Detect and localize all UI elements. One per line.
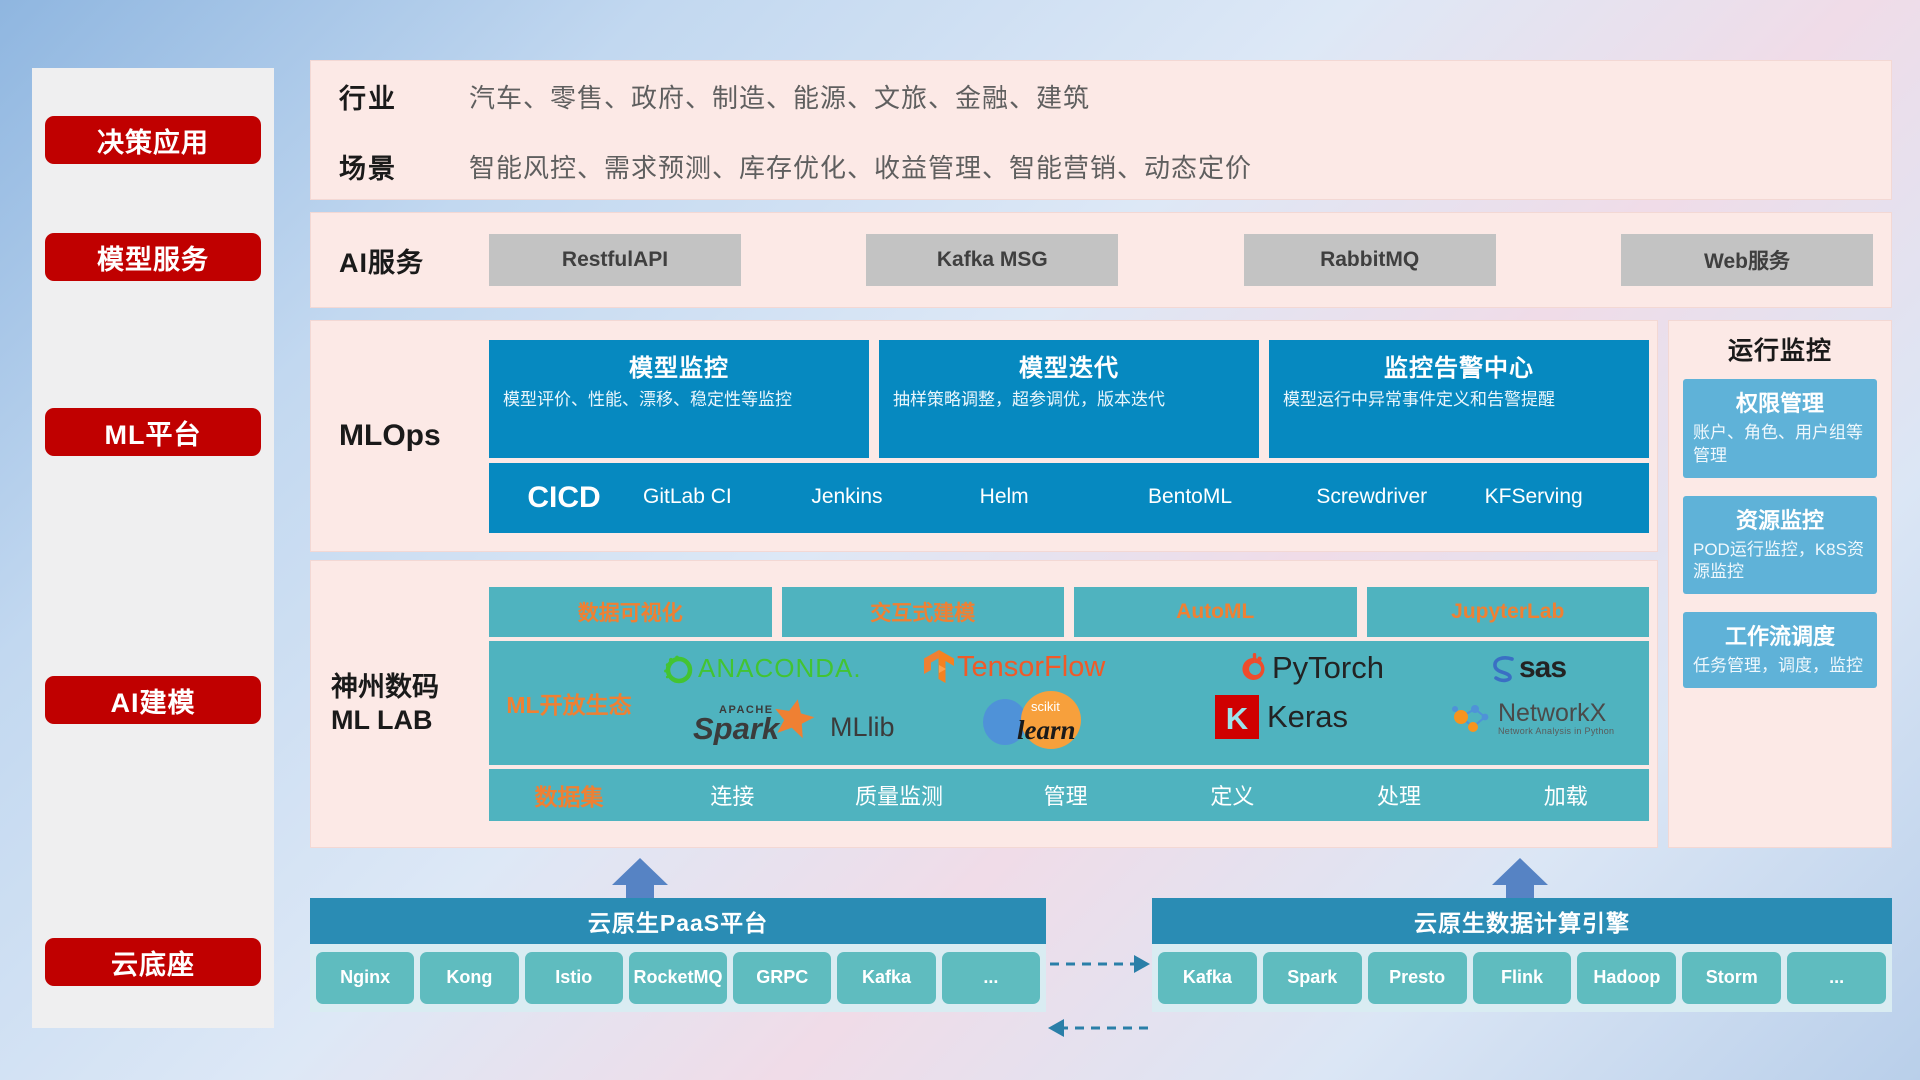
card-desc: 账户、角色、用户组等管理 <box>1693 422 1867 468</box>
mllib-wordmark: MLlib <box>830 712 895 743</box>
service-box-restfulapi[interactable]: RestfulAPI <box>489 234 741 286</box>
monitoring-card-resource[interactable]: 资源监控 POD运行监控，K8S资源监控 <box>1683 496 1877 595</box>
scenario-row: 场景 智能风控、需求预测、库存优化、收益管理、智能营销、动态定价 <box>311 131 1891 201</box>
cicd-item-helm[interactable]: Helm <box>976 486 1144 509</box>
networkx-tagline: Network Analysis in Python <box>1498 726 1614 736</box>
ml-open-ecosystem-label: ML开放生态 <box>489 686 649 720</box>
pytorch-wordmark: PyTorch <box>1272 650 1384 686</box>
svg-text:Spark: Spark <box>693 711 781 745</box>
cicd-item-screwdriver[interactable]: Screwdriver <box>1312 486 1480 509</box>
ml-open-ecosystem: ML开放生态 ANACONDA. <box>489 641 1649 765</box>
sidebar-item-label: 模型服务 <box>97 238 209 277</box>
engine-chip-more[interactable]: ... <box>1787 952 1886 1004</box>
decision-applications-band: 行业 汽车、零售、政府、制造、能源、文旅、金融、建筑 场景 智能风控、需求预测、… <box>310 60 1892 200</box>
dataset-item-quality-monitor[interactable]: 质量监测 <box>816 779 983 811</box>
card-desc: 任务管理，调度，监控 <box>1693 655 1867 678</box>
tool-automl[interactable]: AutoML <box>1074 587 1357 637</box>
tool-jupyterlab[interactable]: JupyterLab <box>1367 587 1650 637</box>
dataset-bar: 数据集 连接 质量监测 管理 定义 处理 加载 <box>489 769 1649 821</box>
engine-chip-list: Kafka Spark Presto Flink Hadoop Storm ..… <box>1152 944 1892 1012</box>
dataset-label: 数据集 <box>489 778 649 812</box>
paas-chip-kong[interactable]: Kong <box>420 952 518 1004</box>
dataset-item-define[interactable]: 定义 <box>1149 779 1316 811</box>
engine-chip-flink[interactable]: Flink <box>1473 952 1572 1004</box>
engine-chip-storm[interactable]: Storm <box>1682 952 1781 1004</box>
industry-row: 行业 汽车、零售、政府、制造、能源、文旅、金融、建筑 <box>311 61 1891 131</box>
ecosystem-logo-grid: ANACONDA. TensorFlow <box>649 641 1649 765</box>
paas-chip-kafka[interactable]: Kafka <box>837 952 935 1004</box>
industry-key: 行业 <box>339 77 469 116</box>
card-desc: 模型运行中异常事件定义和告警提醒 <box>1283 389 1635 412</box>
networkx-wordmark: NetworkX <box>1498 701 1614 726</box>
card-title: 权限管理 <box>1693 386 1867 418</box>
scenario-key: 场景 <box>339 147 469 186</box>
scenario-value: 智能风控、需求预测、库存优化、收益管理、智能营销、动态定价 <box>469 148 1252 185</box>
paas-engine-link-arrows <box>1046 940 1152 1060</box>
mlops-label: MLOps <box>311 419 489 453</box>
card-title: 监控告警中心 <box>1283 348 1635 383</box>
dataset-item-list: 连接 质量监测 管理 定义 处理 加载 <box>649 779 1649 811</box>
cicd-item-jenkins[interactable]: Jenkins <box>807 486 975 509</box>
engine-chip-hadoop[interactable]: Hadoop <box>1577 952 1676 1004</box>
paas-chip-list: Nginx Kong Istio RocketMQ GRPC Kafka ... <box>310 944 1046 1012</box>
dataset-item-load[interactable]: 加载 <box>1482 779 1649 811</box>
scikit-learn-logo: scikit learn <box>979 691 1115 749</box>
tensorflow-logo: TensorFlow <box>923 649 1105 685</box>
scikit-learn-icon: scikit learn <box>979 691 1115 749</box>
paas-title: 云原生PaaS平台 <box>310 898 1046 944</box>
model-service-band: AI服务 RestfulAPI Kafka MSG RabbitMQ Web服务 <box>310 212 1892 308</box>
sidebar-item-ai-modeling[interactable]: AI建模 <box>45 676 261 724</box>
pytorch-logo: PyTorch <box>1241 650 1384 686</box>
sas-wordmark: sas <box>1519 651 1566 685</box>
industry-value: 汽车、零售、政府、制造、能源、文旅、金融、建筑 <box>469 78 1090 115</box>
ai-modeling-band: 神州数码 ML LAB 数据可视化 交互式建模 AutoML JupyterLa… <box>310 560 1658 848</box>
ml-platform-band: MLOps 模型监控 模型评价、性能、漂移、稳定性等监控 模型迭代 抽样策略调整… <box>310 320 1658 552</box>
tensorflow-icon <box>923 649 955 685</box>
ai-service-label: AI服务 <box>311 241 489 280</box>
networkx-logo: NetworkX Network Analysis in Python <box>1449 699 1614 737</box>
keras-icon: K <box>1215 695 1259 739</box>
mlops-card-alert-center[interactable]: 监控告警中心 模型运行中异常事件定义和告警提醒 <box>1269 340 1649 458</box>
svg-text:scikit: scikit <box>1031 699 1060 714</box>
card-desc: POD运行监控，K8S资源监控 <box>1693 539 1867 585</box>
mlops-card-model-iteration[interactable]: 模型迭代 抽样策略调整，超参调优，版本迭代 <box>879 340 1259 458</box>
ml-lab-label-line2: ML LAB <box>331 704 489 737</box>
spark-mllib-logo: APACHE Spark MLlib <box>693 697 895 745</box>
anaconda-icon <box>661 651 695 685</box>
cicd-item-kfserving[interactable]: KFServing <box>1481 486 1649 509</box>
sidebar-item-cloud-base[interactable]: 云底座 <box>45 938 261 986</box>
runtime-monitoring-panel: 运行监控 权限管理 账户、角色、用户组等管理 资源监控 POD运行监控，K8S资… <box>1668 320 1892 848</box>
monitoring-card-workflow[interactable]: 工作流调度 任务管理，调度，监控 <box>1683 612 1877 688</box>
cicd-title: CICD <box>489 481 639 515</box>
sas-logo: sas <box>1489 651 1566 685</box>
sidebar-item-label: AI建模 <box>111 681 196 720</box>
anaconda-logo: ANACONDA. <box>661 651 862 685</box>
engine-title: 云原生数据计算引擎 <box>1152 898 1892 944</box>
card-desc: 模型评价、性能、漂移、稳定性等监控 <box>503 389 855 412</box>
cicd-item-list: GitLab CI Jenkins Helm BentoML Screwdriv… <box>639 486 1649 509</box>
monitoring-title: 运行监控 <box>1683 331 1877 367</box>
networkx-icon <box>1449 699 1493 737</box>
paas-chip-nginx[interactable]: Nginx <box>316 952 414 1004</box>
svg-text:K: K <box>1226 701 1249 736</box>
keras-logo: K Keras <box>1215 695 1348 739</box>
cloud-native-paas-panel: 云原生PaaS平台 Nginx Kong Istio RocketMQ GRPC… <box>310 898 1046 1012</box>
paas-chip-rocketmq[interactable]: RocketMQ <box>629 952 727 1004</box>
dataset-item-process[interactable]: 处理 <box>1316 779 1483 811</box>
stage-sidebar: 决策应用 模型服务 ML平台 AI建模 云底座 <box>32 68 274 1028</box>
service-box-web[interactable]: Web服务 <box>1621 234 1873 286</box>
monitoring-card-permission[interactable]: 权限管理 账户、角色、用户组等管理 <box>1683 379 1877 478</box>
sidebar-item-label: 云底座 <box>111 943 195 982</box>
card-title: 工作流调度 <box>1693 619 1867 651</box>
tool-data-visualization[interactable]: 数据可视化 <box>489 587 772 637</box>
sidebar-item-ml-platform[interactable]: ML平台 <box>45 408 261 456</box>
cicd-bar: CICD GitLab CI Jenkins Helm BentoML Scre… <box>489 463 1649 533</box>
sidebar-item-label: 决策应用 <box>97 121 209 160</box>
ai-service-box-list: RestfulAPI Kafka MSG RabbitMQ Web服务 <box>489 234 1891 286</box>
paas-chip-grpc[interactable]: GRPC <box>733 952 831 1004</box>
architecture-main: 行业 汽车、零售、政府、制造、能源、文旅、金融、建筑 场景 智能风控、需求预测、… <box>310 0 1892 1080</box>
service-box-kafka-msg[interactable]: Kafka MSG <box>866 234 1118 286</box>
keras-wordmark: Keras <box>1267 699 1348 735</box>
card-title: 模型迭代 <box>893 348 1245 383</box>
paas-chip-more[interactable]: ... <box>942 952 1040 1004</box>
mlops-content: 模型监控 模型评价、性能、漂移、稳定性等监控 模型迭代 抽样策略调整，超参调优，… <box>489 340 1657 533</box>
cloud-native-data-engine-panel: 云原生数据计算引擎 Kafka Spark Presto Flink Hadoo… <box>1152 898 1892 1012</box>
spark-icon: APACHE Spark <box>693 697 825 745</box>
ml-lab-content: 数据可视化 交互式建模 AutoML JupyterLab ML开放生态 <box>489 587 1657 821</box>
card-desc: 抽样策略调整，超参调优，版本迭代 <box>893 389 1245 412</box>
anaconda-wordmark: ANACONDA. <box>698 653 862 684</box>
ml-lab-tool-list: 数据可视化 交互式建模 AutoML JupyterLab <box>489 587 1649 637</box>
sidebar-item-decision-apps[interactable]: 决策应用 <box>45 116 261 164</box>
service-box-rabbitmq[interactable]: RabbitMQ <box>1244 234 1496 286</box>
ml-lab-label: 神州数码 ML LAB <box>311 671 489 737</box>
sidebar-item-label: ML平台 <box>105 413 202 452</box>
engine-chip-spark[interactable]: Spark <box>1263 952 1362 1004</box>
mlops-card-model-monitoring[interactable]: 模型监控 模型评价、性能、漂移、稳定性等监控 <box>489 340 869 458</box>
ml-lab-label-line1: 神州数码 <box>331 671 489 704</box>
mlops-card-list: 模型监控 模型评价、性能、漂移、稳定性等监控 模型迭代 抽样策略调整，超参调优，… <box>489 340 1649 458</box>
engine-chip-kafka[interactable]: Kafka <box>1158 952 1257 1004</box>
card-title: 模型监控 <box>503 348 855 383</box>
cicd-item-bentoml[interactable]: BentoML <box>1144 486 1312 509</box>
tensorflow-wordmark: TensorFlow <box>957 651 1105 684</box>
cicd-item-gitlab-ci[interactable]: GitLab CI <box>639 486 807 509</box>
pytorch-icon <box>1241 652 1268 684</box>
dataset-item-manage[interactable]: 管理 <box>982 779 1149 811</box>
sidebar-item-model-service[interactable]: 模型服务 <box>45 233 261 281</box>
sas-icon <box>1489 653 1519 683</box>
dataset-item-connect[interactable]: 连接 <box>649 779 816 811</box>
svg-text:learn: learn <box>1017 715 1076 745</box>
engine-chip-presto[interactable]: Presto <box>1368 952 1467 1004</box>
tool-interactive-modeling[interactable]: 交互式建模 <box>782 587 1065 637</box>
card-title: 资源监控 <box>1693 503 1867 535</box>
paas-chip-istio[interactable]: Istio <box>525 952 623 1004</box>
